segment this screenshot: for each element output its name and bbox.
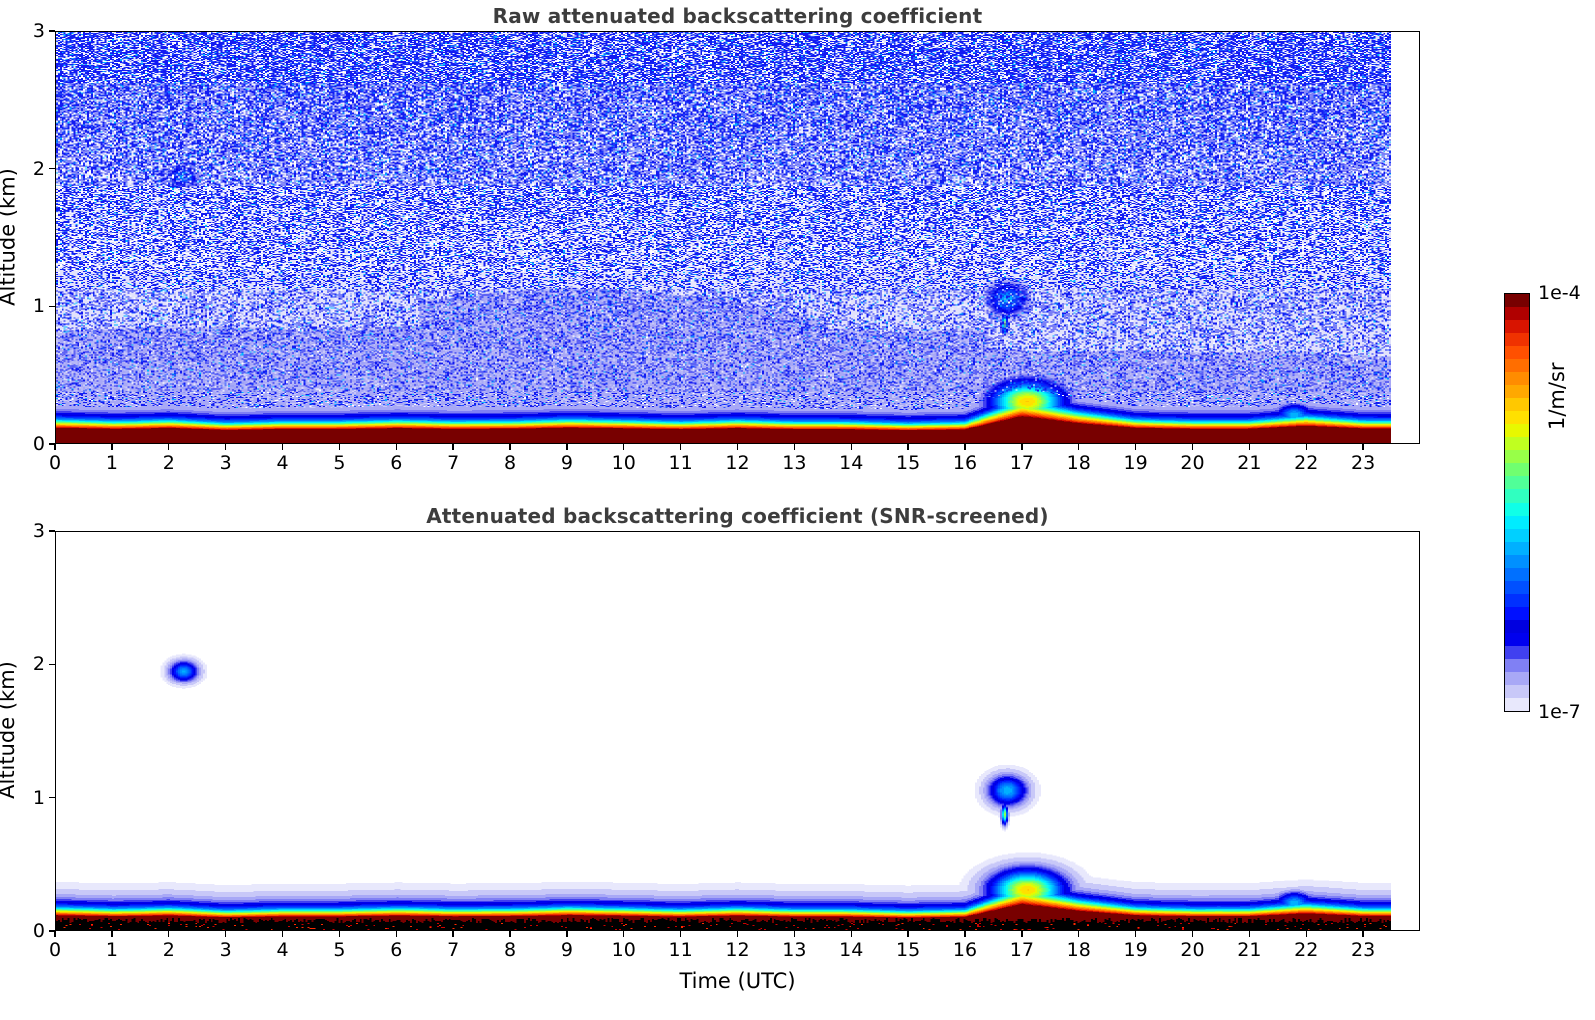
x-tick: [680, 931, 681, 937]
x-tick-label: 17: [1010, 939, 1034, 961]
x-tick-label: 16: [953, 939, 977, 961]
y-tick-label: 1: [19, 295, 45, 317]
colorbar-band: [1505, 294, 1529, 308]
x-tick: [964, 444, 965, 450]
y-tick: [49, 168, 55, 169]
x-tick: [964, 931, 965, 937]
x-tick-label: 3: [220, 452, 232, 474]
x-tick-label: 10: [612, 939, 636, 961]
x-tick: [1078, 931, 1079, 937]
colorbar-band: [1505, 580, 1529, 594]
x-tick: [1021, 444, 1022, 450]
colorbar-band: [1505, 697, 1529, 711]
x-tick-label: 8: [504, 452, 516, 474]
y-tick-label: 1: [19, 787, 45, 809]
x-tick-label: 8: [504, 939, 516, 961]
colorbar-band: [1505, 541, 1529, 555]
x-tick: [452, 444, 453, 450]
y-tick-label: 0: [19, 433, 45, 455]
x-tick: [509, 444, 510, 450]
x-tick: [737, 444, 738, 450]
x-tick-label: 11: [669, 939, 693, 961]
y-tick-label: 2: [19, 653, 45, 675]
x-tick: [1306, 444, 1307, 450]
colorbar-band: [1505, 645, 1529, 659]
x-tick: [1249, 931, 1250, 937]
x-tick: [452, 931, 453, 937]
x-tick-label: 23: [1351, 452, 1375, 474]
colorbar-min-label: 1e-7: [1538, 701, 1581, 723]
x-tick: [1362, 444, 1363, 450]
x-tick: [282, 444, 283, 450]
colorbar-band: [1505, 320, 1529, 334]
x-tick: [225, 931, 226, 937]
colorbar-max-label: 1e-4: [1538, 282, 1581, 304]
x-tick: [1192, 931, 1193, 937]
x-tick-label: 10: [612, 452, 636, 474]
x-tick: [623, 931, 624, 937]
x-tick: [339, 444, 340, 450]
colorbar-band: [1505, 424, 1529, 438]
colorbar-band: [1505, 437, 1529, 451]
x-tick-label: 13: [782, 939, 806, 961]
x-tick-label: 1: [106, 452, 118, 474]
colorbar-band: [1505, 658, 1529, 672]
x-tick: [509, 931, 510, 937]
x-tick: [851, 444, 852, 450]
lidar-figure: Raw attenuated backscattering coefficien…: [0, 0, 1595, 1020]
colorbar-band: [1505, 619, 1529, 633]
x-tick: [282, 931, 283, 937]
x-tick-label: 9: [561, 939, 573, 961]
x-tick-label: 14: [839, 939, 863, 961]
y-tick-label: 3: [19, 520, 45, 542]
x-tick: [1306, 931, 1307, 937]
x-tick: [168, 931, 169, 937]
x-tick-label: 18: [1067, 452, 1091, 474]
x-tick-label: 15: [896, 452, 920, 474]
colorbar-band: [1505, 567, 1529, 581]
x-tick-label: 21: [1237, 452, 1261, 474]
x-tick-label: 12: [725, 939, 749, 961]
heatmap-raw: [56, 32, 1419, 443]
x-tick-label: 6: [390, 452, 402, 474]
x-tick: [111, 444, 112, 450]
y-tick: [49, 930, 55, 931]
y-tick: [49, 306, 55, 307]
colorbar: 1e-4 1e-7: [1504, 293, 1530, 712]
x-tick-label: 19: [1124, 939, 1148, 961]
y-tick: [49, 664, 55, 665]
colorbar-band: [1505, 307, 1529, 321]
x-tick-label: 5: [333, 939, 345, 961]
x-tick-label: 15: [896, 939, 920, 961]
y-tick: [49, 797, 55, 798]
colorbar-band: [1505, 463, 1529, 477]
x-tick: [54, 444, 55, 450]
heatmap-canvas-screened: [56, 532, 1391, 930]
x-tick: [111, 931, 112, 937]
x-tick-label: 2: [163, 939, 175, 961]
x-tick: [794, 444, 795, 450]
colorbar-band: [1505, 333, 1529, 347]
y-tick-label: 3: [19, 20, 45, 42]
heatmap-canvas-raw: [56, 32, 1391, 443]
x-tick-label: 22: [1294, 939, 1318, 961]
x-tick-label: 12: [725, 452, 749, 474]
x-tick: [1362, 931, 1363, 937]
x-tick-label: 14: [839, 452, 863, 474]
colorbar-band: [1505, 593, 1529, 607]
panel-title-raw: Raw attenuated backscattering coefficien…: [55, 4, 1420, 28]
x-tick-label: 4: [276, 939, 288, 961]
y-tick-label: 0: [19, 920, 45, 942]
y-tick-label: 2: [19, 158, 45, 180]
x-tick: [54, 931, 55, 937]
x-tick-label: 18: [1067, 939, 1091, 961]
colorbar-band: [1505, 476, 1529, 490]
plot-area-screened: [55, 531, 1420, 931]
x-tick-label: 5: [333, 452, 345, 474]
colorbar-band: [1505, 502, 1529, 516]
x-tick: [1135, 444, 1136, 450]
x-tick: [396, 931, 397, 937]
x-tick: [225, 444, 226, 450]
x-tick-label: 22: [1294, 452, 1318, 474]
colorbar-band: [1505, 489, 1529, 503]
x-tick: [1021, 931, 1022, 937]
y-axis-label-raw: Altitude (km): [0, 30, 19, 443]
x-tick: [907, 444, 908, 450]
x-tick-label: 11: [669, 452, 693, 474]
x-axis-label: Time (UTC): [55, 969, 1420, 993]
x-tick-label: 0: [49, 939, 61, 961]
x-tick: [794, 931, 795, 937]
x-tick: [168, 444, 169, 450]
colorbar-band: [1505, 684, 1529, 698]
y-tick: [49, 443, 55, 444]
colorbar-band: [1505, 372, 1529, 386]
colorbar-band: [1505, 359, 1529, 373]
colorbar-band: [1505, 398, 1529, 412]
x-tick-label: 20: [1180, 452, 1204, 474]
y-axis-label-screened: Altitude (km): [0, 530, 19, 930]
x-tick-label: 2: [163, 452, 175, 474]
colorbar-band: [1505, 606, 1529, 620]
colorbar-band: [1505, 554, 1529, 568]
colorbar-band: [1505, 515, 1529, 529]
x-tick: [907, 931, 908, 937]
x-tick-label: 21: [1237, 939, 1261, 961]
x-tick-label: 23: [1351, 939, 1375, 961]
x-tick: [1135, 931, 1136, 937]
x-tick: [339, 931, 340, 937]
x-tick-label: 3: [220, 939, 232, 961]
x-tick-label: 6: [390, 939, 402, 961]
x-tick: [566, 931, 567, 937]
x-tick: [623, 444, 624, 450]
plot-area-raw: [55, 31, 1420, 444]
panel-title-screened: Attenuated backscattering coefficient (S…: [55, 504, 1420, 528]
x-tick-label: 19: [1124, 452, 1148, 474]
colorbar-band: [1505, 450, 1529, 464]
x-tick: [566, 444, 567, 450]
x-tick: [1192, 444, 1193, 450]
x-tick-label: 17: [1010, 452, 1034, 474]
x-tick: [680, 444, 681, 450]
colorbar-band: [1505, 632, 1529, 646]
x-tick-label: 13: [782, 452, 806, 474]
colorbar-band: [1505, 385, 1529, 399]
colorbar-band: [1505, 528, 1529, 542]
x-tick-label: 16: [953, 452, 977, 474]
x-tick-label: 7: [447, 939, 459, 961]
y-tick: [49, 30, 55, 31]
colorbar-band: [1505, 411, 1529, 425]
x-tick-label: 9: [561, 452, 573, 474]
y-tick: [49, 530, 55, 531]
x-tick-label: 1: [106, 939, 118, 961]
x-tick: [1249, 444, 1250, 450]
heatmap-screened: [56, 532, 1419, 930]
colorbar-gradient: [1504, 293, 1530, 712]
x-tick-label: 4: [276, 452, 288, 474]
x-tick-label: 20: [1180, 939, 1204, 961]
colorbar-band: [1505, 671, 1529, 685]
colorbar-band: [1505, 346, 1529, 360]
x-tick: [851, 931, 852, 937]
x-tick-label: 7: [447, 452, 459, 474]
x-tick-label: 0: [49, 452, 61, 474]
colorbar-label: 1/m/sr: [1545, 362, 1569, 430]
x-tick: [396, 444, 397, 450]
x-tick: [1078, 444, 1079, 450]
x-tick: [737, 931, 738, 937]
